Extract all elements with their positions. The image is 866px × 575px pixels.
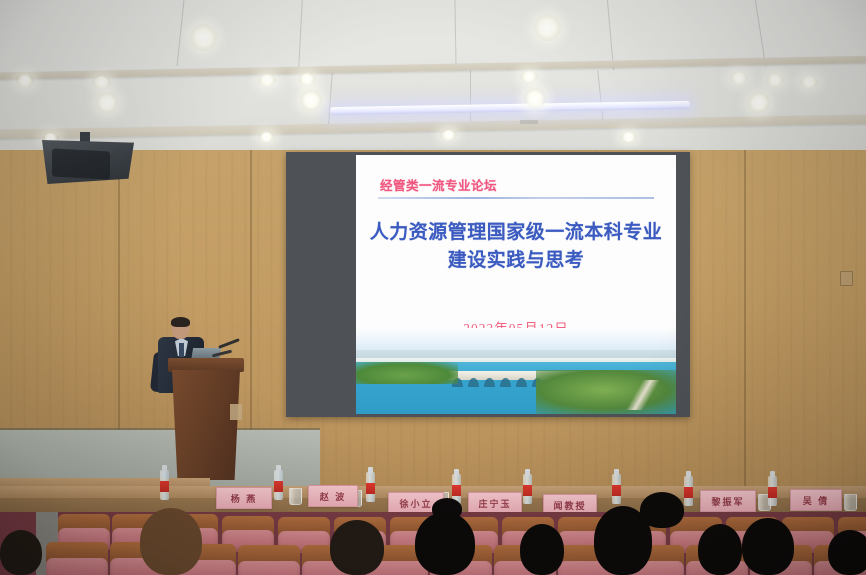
namecard-text: 杨 燕 bbox=[231, 492, 258, 505]
recessed-downlight bbox=[258, 74, 276, 86]
ceiling-seam bbox=[470, 70, 471, 124]
attendee-head bbox=[415, 512, 475, 575]
namecard: 吴 倩 bbox=[790, 489, 842, 511]
attendee-head bbox=[330, 520, 384, 575]
recessed-downlight bbox=[300, 90, 322, 111]
photo-island-greenery bbox=[356, 362, 458, 384]
ceiling-seam bbox=[298, 0, 303, 68]
slide-title-line-2: 建设实践与思考 bbox=[366, 247, 666, 275]
namecard-text: 吴 倩 bbox=[803, 494, 830, 507]
attendee-head bbox=[640, 492, 684, 528]
slide-landscape-photo bbox=[356, 328, 676, 414]
drinking-glass[interactable] bbox=[844, 494, 857, 511]
ceiling-seam bbox=[177, 0, 185, 66]
lectern-body bbox=[172, 370, 240, 480]
namecard-text: 闻教授 bbox=[553, 499, 586, 512]
namecard: 黎振军 bbox=[700, 490, 756, 512]
water-bottle[interactable] bbox=[684, 476, 693, 506]
namecard-text: 徐小立 bbox=[399, 497, 432, 510]
water-bottle[interactable] bbox=[768, 476, 777, 506]
recessed-downlight bbox=[730, 72, 748, 84]
namecard-text: 黎振军 bbox=[711, 495, 744, 508]
recessed-downlight bbox=[800, 76, 818, 88]
projection-screen: 经管类一流专业论坛 人力资源管理国家级一流本科专业 建设实践与思考 2023年0… bbox=[286, 152, 690, 417]
namecard: 赵 波 bbox=[308, 485, 358, 507]
ceiling-cove-band bbox=[0, 114, 866, 140]
wall-outlet-plate[interactable] bbox=[840, 271, 853, 286]
recessed-downlight bbox=[190, 24, 217, 51]
auditorium-seat[interactable] bbox=[238, 561, 300, 575]
slide-divider-rule bbox=[378, 197, 654, 199]
ceiling-vent bbox=[520, 120, 538, 124]
recessed-downlight bbox=[620, 132, 637, 142]
speaker-grille bbox=[52, 148, 110, 179]
ceiling-seam bbox=[607, 0, 614, 70]
attendee-head bbox=[0, 530, 42, 575]
attendee-head bbox=[742, 518, 794, 575]
recessed-downlight bbox=[92, 76, 111, 88]
namecard-text: 庄宁玉 bbox=[478, 497, 511, 510]
recessed-downlight bbox=[298, 73, 316, 85]
water-bottle[interactable] bbox=[612, 474, 621, 504]
attendee-head bbox=[828, 530, 866, 575]
attendee-head bbox=[698, 524, 742, 575]
drinking-glass[interactable] bbox=[289, 488, 302, 505]
auditorium-seat[interactable] bbox=[46, 558, 108, 575]
lecture-hall-photo: 经管类一流专业论坛 人力资源管理国家级一流本科专业 建设实践与思考 2023年0… bbox=[0, 0, 866, 575]
water-bottle[interactable] bbox=[523, 474, 532, 504]
namecard-text: 赵 波 bbox=[320, 490, 347, 503]
namecard: 杨 燕 bbox=[216, 487, 272, 509]
recessed-downlight bbox=[748, 92, 770, 113]
recessed-downlight bbox=[534, 14, 561, 41]
recessed-downlight bbox=[440, 130, 457, 140]
attendee-head bbox=[520, 524, 564, 575]
water-bottle[interactable] bbox=[274, 470, 283, 500]
slide-kicker-text: 经管类一流专业论坛 bbox=[380, 175, 497, 194]
recessed-downlight bbox=[766, 74, 784, 86]
slide-title: 人力资源管理国家级一流本科专业 建设实践与思考 bbox=[366, 219, 666, 274]
recessed-downlight bbox=[520, 71, 538, 82]
recessed-downlight bbox=[16, 74, 34, 87]
water-bottle[interactable] bbox=[366, 472, 375, 502]
attendee-head bbox=[432, 498, 462, 520]
recessed-downlight bbox=[258, 132, 275, 142]
presenter-tie bbox=[179, 343, 184, 357]
lectern-top bbox=[168, 358, 244, 372]
presenter-hair bbox=[171, 317, 190, 327]
ceiling-seam bbox=[454, 0, 456, 70]
ceiling-seam bbox=[328, 70, 333, 124]
wall-panel-seam bbox=[744, 150, 746, 490]
namecard: 庄宁玉 bbox=[468, 492, 522, 514]
slide-title-line-1: 人力资源管理国家级一流本科专业 bbox=[366, 219, 666, 247]
ceiling-seam bbox=[597, 70, 604, 124]
recessed-downlight bbox=[96, 92, 118, 113]
attendee-head bbox=[140, 508, 202, 575]
linear-light-strip bbox=[330, 101, 690, 115]
water-bottle[interactable] bbox=[160, 470, 169, 500]
recessed-downlight bbox=[524, 88, 546, 109]
photo-walking-path bbox=[620, 380, 668, 410]
ceiling-seam bbox=[755, 0, 766, 65]
presentation-slide: 经管类一流专业论坛 人力资源管理国家级一流本科专业 建设实践与思考 2023年0… bbox=[356, 155, 676, 414]
lectern-control-panel[interactable] bbox=[230, 404, 242, 420]
